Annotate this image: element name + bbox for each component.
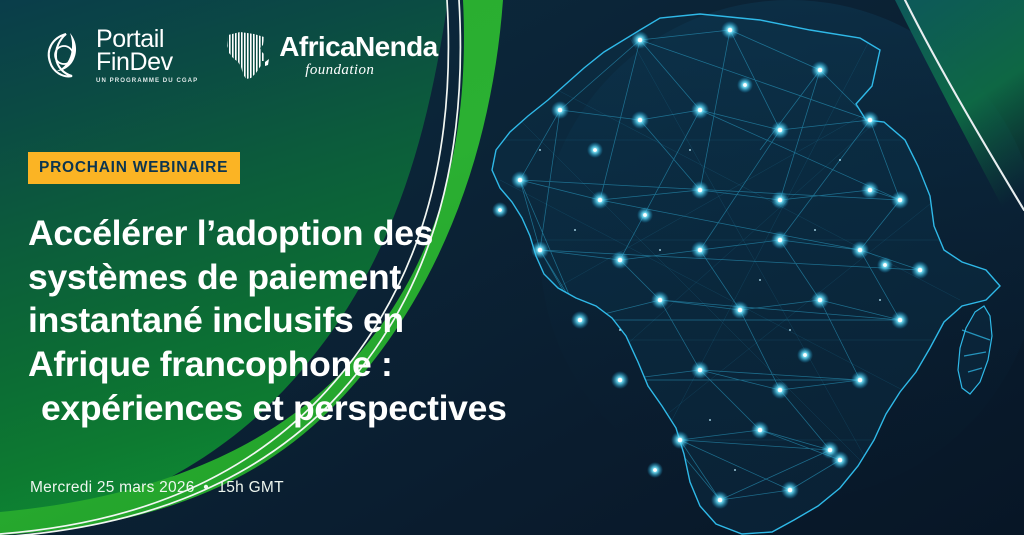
status-badge: PROCHAIN WEBINAIRE	[28, 152, 240, 184]
content-column: Portail FinDev UN PROGRAMME DU CGAP	[0, 0, 470, 535]
logo-africanenda-name: AfricaNenda	[279, 33, 437, 61]
logo-findev-tagline: UN PROGRAMME DU CGAP	[96, 78, 198, 84]
webinar-promo-banner: Portail FinDev UN PROGRAMME DU CGAP	[0, 0, 1024, 535]
event-time: 15h GMT	[217, 479, 283, 496]
logo-findev-line2: FinDev	[96, 51, 173, 74]
africa-barcode-icon	[220, 29, 272, 83]
title-line-1: Accélérer l’adoption des	[28, 212, 458, 256]
badge-label: PROCHAIN WEBINAIRE	[39, 159, 228, 176]
title-line-2: systèmes de paiement	[28, 256, 458, 300]
page-title: Accélérer l’adoption des systèmes de pai…	[28, 212, 458, 430]
title-line-5: expériences et perspectives	[28, 387, 458, 431]
findev-leaf-icon	[44, 30, 88, 82]
title-line-3: instantané inclusifs en	[28, 299, 458, 343]
logo-africanenda-sub: foundation	[305, 62, 374, 79]
logo-africanenda[interactable]: AfricaNenda foundation	[220, 29, 437, 83]
event-datetime: Mercredi 25 mars 2026 • 15h GMT	[30, 479, 284, 497]
title-line-4: Afrique francophone :	[28, 343, 458, 387]
separator-dot: •	[199, 479, 213, 496]
logo-row: Portail FinDev UN PROGRAMME DU CGAP	[44, 28, 438, 84]
event-date: Mercredi 25 mars 2026	[30, 479, 195, 496]
logo-portail-findev[interactable]: Portail FinDev UN PROGRAMME DU CGAP	[44, 28, 198, 84]
